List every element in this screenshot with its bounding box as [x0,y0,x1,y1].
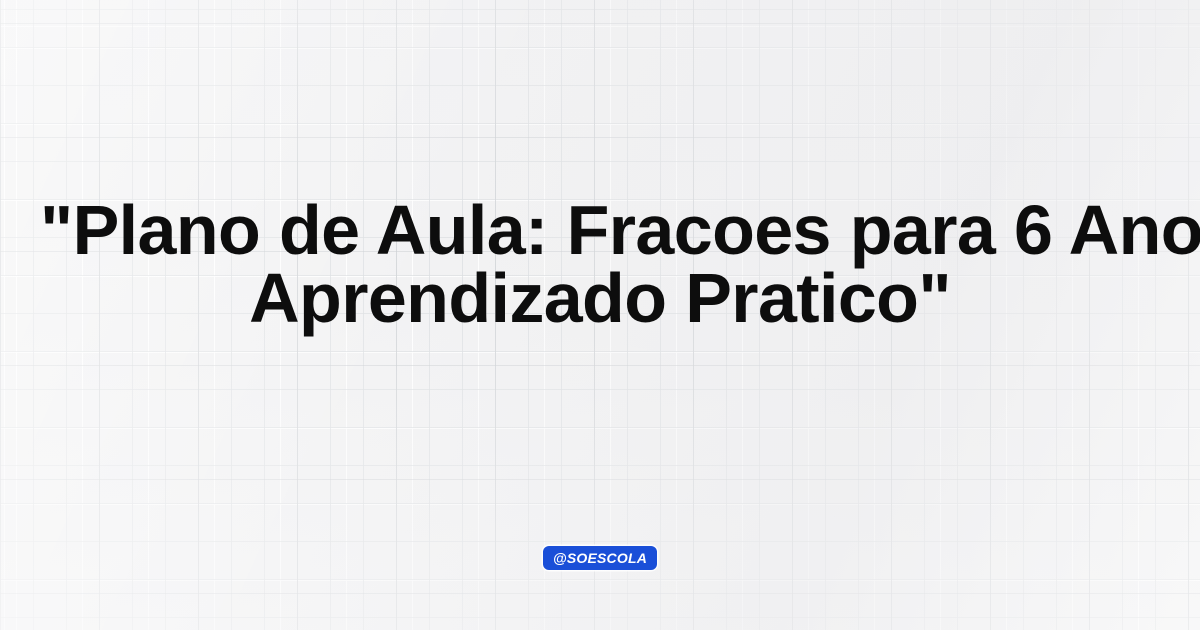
page-title: "Plano de Aula: Fracoes para 6 Ano - Apr… [0,196,1200,332]
page-title-line-2: Aprendizado Pratico" [40,264,1160,332]
watermark-badge-row: @SOESCOLA [0,546,1200,570]
soescola-badge[interactable]: @SOESCOLA [543,546,657,570]
soescola-badge-label: @SOESCOLA [553,551,647,565]
page-title-line-1: "Plano de Aula: Fracoes para 6 Ano - [40,196,1160,264]
poster-canvas: "Plano de Aula: Fracoes para 6 Ano - Apr… [0,0,1200,630]
